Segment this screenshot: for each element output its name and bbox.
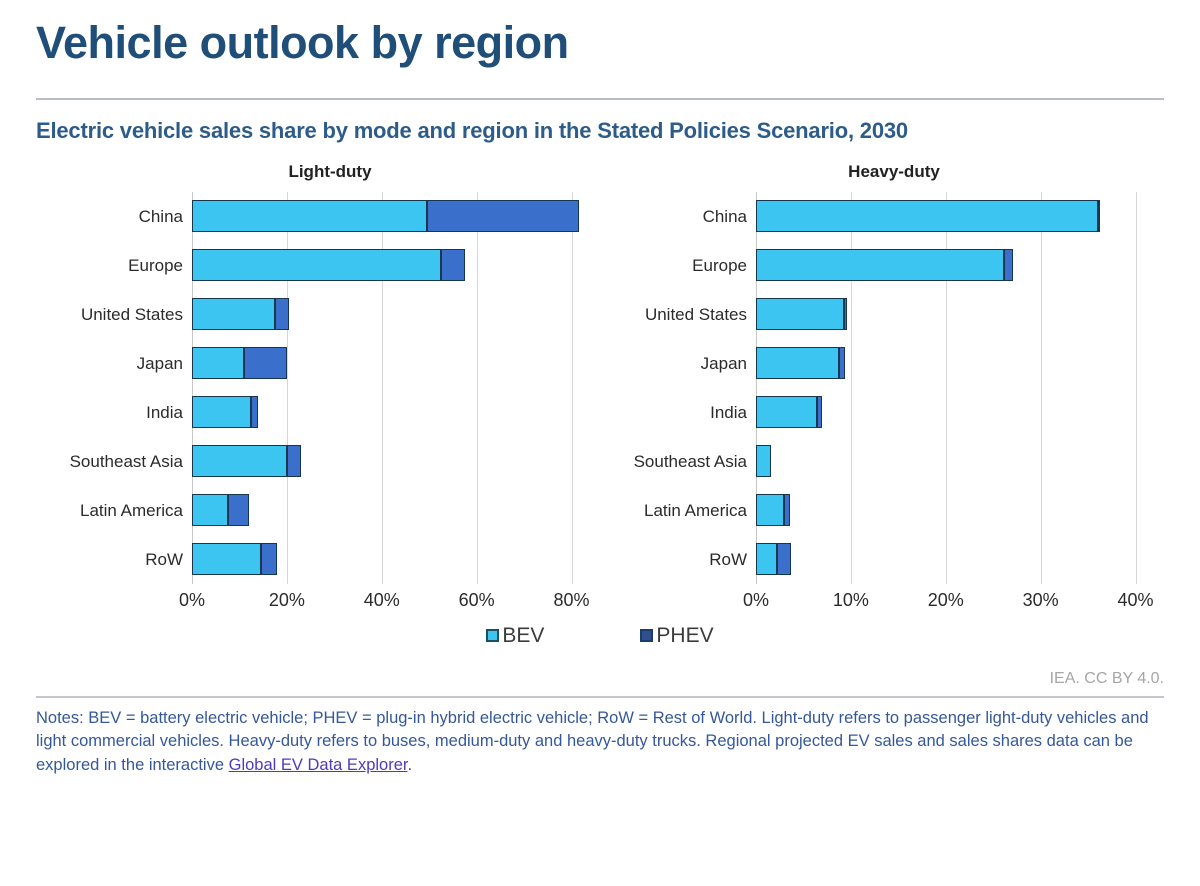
bar-row	[756, 535, 1164, 584]
category-label: Latin America	[600, 486, 756, 535]
bar-segment-phev[interactable]	[287, 445, 301, 477]
chart-legend: BEV PHEV	[36, 624, 1164, 648]
category-labels-light-duty: ChinaEuropeUnited StatesJapanIndiaSouthe…	[36, 192, 192, 584]
bar-stack[interactable]	[192, 249, 600, 281]
x-axis-tick-label: 30%	[1023, 590, 1059, 611]
category-label: Southeast Asia	[600, 437, 756, 486]
bar-segment-bev[interactable]	[756, 249, 1004, 281]
bar-stack[interactable]	[192, 200, 600, 232]
category-label: Southeast Asia	[36, 437, 192, 486]
legend-item-bev: BEV	[486, 624, 544, 648]
bar-segment-phev[interactable]	[441, 249, 465, 281]
bar-stack[interactable]	[756, 298, 1164, 330]
bar-segment-phev[interactable]	[839, 347, 845, 379]
bar-segment-bev[interactable]	[192, 396, 251, 428]
chart-subtitle: Electric vehicle sales share by mode and…	[36, 118, 1164, 144]
bar-row	[192, 290, 600, 339]
bar-stack[interactable]	[756, 249, 1164, 281]
category-label: RoW	[36, 535, 192, 584]
bar-segment-bev[interactable]	[192, 445, 287, 477]
charts-container: Light-duty ChinaEuropeUnited StatesJapan…	[36, 162, 1164, 618]
slide: Vehicle outlook by region Electric vehic…	[0, 0, 1200, 886]
legend-swatch-bev-icon	[486, 629, 499, 642]
bar-segment-bev[interactable]	[192, 200, 427, 232]
plot-wrap-heavy-duty: ChinaEuropeUnited StatesJapanIndiaSouthe…	[600, 192, 1164, 584]
bar-row	[192, 535, 600, 584]
bar-stack[interactable]	[192, 396, 600, 428]
bar-segment-phev[interactable]	[228, 494, 249, 526]
bar-stack[interactable]	[192, 543, 600, 575]
category-label: United States	[36, 290, 192, 339]
bar-stack[interactable]	[192, 298, 600, 330]
category-label: Europe	[600, 241, 756, 290]
bar-row	[192, 486, 600, 535]
bar-row	[756, 388, 1164, 437]
notes-divider	[36, 696, 1164, 698]
x-axis-tick-label: 0%	[743, 590, 769, 611]
bar-segment-phev[interactable]	[244, 347, 287, 379]
category-label: RoW	[600, 535, 756, 584]
bar-row	[756, 192, 1164, 241]
bar-segment-phev[interactable]	[784, 494, 790, 526]
category-label: Japan	[600, 339, 756, 388]
bar-segment-phev[interactable]	[844, 298, 847, 330]
category-label: Latin America	[36, 486, 192, 535]
notes-body: Notes: BEV = battery electric vehicle; P…	[36, 709, 1149, 775]
bar-segment-phev[interactable]	[251, 396, 258, 428]
category-label: India	[600, 388, 756, 437]
x-axis-heavy-duty: 0%10%20%30%40%	[756, 584, 1164, 618]
bar-segment-phev[interactable]	[1004, 249, 1013, 281]
bar-segment-bev[interactable]	[192, 494, 228, 526]
bar-stack[interactable]	[192, 347, 600, 379]
bar-segment-bev[interactable]	[756, 347, 839, 379]
bar-segment-phev[interactable]	[817, 396, 823, 428]
bar-row	[192, 437, 600, 486]
bar-row	[192, 241, 600, 290]
chart-title-light-duty: Light-duty	[36, 162, 600, 182]
bar-stack[interactable]	[756, 396, 1164, 428]
bar-segment-bev[interactable]	[756, 543, 777, 575]
bar-segment-bev[interactable]	[756, 445, 771, 477]
chart-heavy-duty: Heavy-duty ChinaEuropeUnited StatesJapan…	[600, 162, 1164, 618]
chart-title-heavy-duty: Heavy-duty	[600, 162, 1164, 182]
bar-row	[756, 290, 1164, 339]
x-axis-tick-label: 80%	[554, 590, 590, 611]
x-axis-light-duty: 0%20%40%60%80%	[192, 584, 600, 618]
title-divider	[36, 98, 1164, 100]
global-ev-data-explorer-link[interactable]: Global EV Data Explorer	[229, 756, 408, 774]
bar-stack[interactable]	[192, 445, 600, 477]
license-credit: IEA. CC BY 4.0.	[36, 670, 1164, 688]
bar-segment-bev[interactable]	[192, 347, 244, 379]
bar-stack[interactable]	[756, 543, 1164, 575]
bar-segment-bev[interactable]	[756, 200, 1098, 232]
bar-segment-phev[interactable]	[261, 543, 278, 575]
bar-segment-bev[interactable]	[192, 543, 261, 575]
x-axis-tick-label: 0%	[179, 590, 205, 611]
legend-item-phev: PHEV	[640, 624, 713, 648]
bar-segment-bev[interactable]	[756, 396, 817, 428]
bar-row	[192, 192, 600, 241]
bar-stack[interactable]	[756, 445, 1164, 477]
category-label: Europe	[36, 241, 192, 290]
bar-segment-bev[interactable]	[192, 249, 441, 281]
bar-segment-phev[interactable]	[427, 200, 579, 232]
bar-row	[192, 388, 600, 437]
bar-row	[756, 339, 1164, 388]
page-title: Vehicle outlook by region	[36, 0, 1164, 68]
category-labels-heavy-duty: ChinaEuropeUnited StatesJapanIndiaSouthe…	[600, 192, 756, 584]
bar-row	[192, 339, 600, 388]
bar-stack[interactable]	[756, 494, 1164, 526]
category-label: Japan	[36, 339, 192, 388]
x-axis-tick-label: 40%	[364, 590, 400, 611]
bar-segment-phev[interactable]	[1098, 200, 1101, 232]
x-axis-tick-label: 20%	[269, 590, 305, 611]
notes-text: Notes: BEV = battery electric vehicle; P…	[36, 707, 1164, 779]
x-axis-tick-label: 40%	[1118, 590, 1154, 611]
bar-segment-bev[interactable]	[192, 298, 275, 330]
bar-row	[756, 241, 1164, 290]
x-axis-tick-label: 20%	[928, 590, 964, 611]
bar-row	[756, 486, 1164, 535]
bar-stack[interactable]	[192, 494, 600, 526]
bar-stack[interactable]	[756, 347, 1164, 379]
plot-area-heavy-duty	[756, 192, 1164, 584]
category-label: India	[36, 388, 192, 437]
plot-wrap-light-duty: ChinaEuropeUnited StatesJapanIndiaSouthe…	[36, 192, 600, 584]
legend-swatch-phev-icon	[640, 629, 653, 642]
category-label: China	[600, 192, 756, 241]
bar-segment-bev[interactable]	[756, 494, 784, 526]
bar-segment-phev[interactable]	[777, 543, 791, 575]
category-label: China	[36, 192, 192, 241]
category-label: United States	[600, 290, 756, 339]
legend-label-phev: PHEV	[656, 624, 713, 648]
x-axis-tick-label: 10%	[833, 590, 869, 611]
plot-area-light-duty	[192, 192, 600, 584]
bar-stack[interactable]	[756, 200, 1164, 232]
notes-tail: .	[407, 756, 412, 774]
chart-light-duty: Light-duty ChinaEuropeUnited StatesJapan…	[36, 162, 600, 618]
bar-segment-bev[interactable]	[756, 298, 844, 330]
bar-row	[756, 437, 1164, 486]
legend-label-bev: BEV	[502, 624, 544, 648]
x-axis-tick-label: 60%	[459, 590, 495, 611]
bar-segment-phev[interactable]	[275, 298, 289, 330]
